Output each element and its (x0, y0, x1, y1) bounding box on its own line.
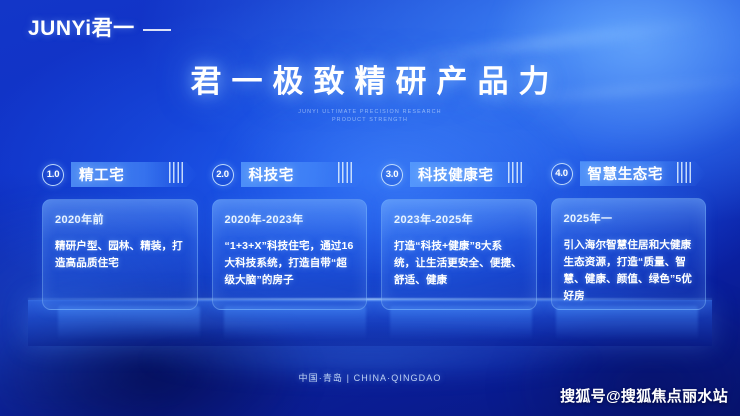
stage-columns: 1.0 精工宅 2020年前 精研户型、园林、精装，打造高品质住宅 2.0 科技… (42, 160, 706, 310)
stripes-icon-4 (677, 162, 693, 183)
slide-canvas: JUNYi君一 君一极致精研产品力 JUNYI ULTIMATE PRECISI… (0, 0, 740, 416)
stage-period-1: 2020年前 (55, 211, 185, 227)
footer-location: 中国·青岛 | CHINA·QINGDAO (0, 371, 740, 384)
stage-column-1[interactable]: 1.0 精工宅 2020年前 精研户型、园林、精装，打造高品质住宅 (42, 160, 198, 310)
page-subtitle-line-1: JUNYI ULTIMATE PRECISION RESEARCH (0, 108, 740, 117)
stage-header-4: 4.0 智慧生态宅 (551, 160, 707, 188)
pedestal-reflection-2 (224, 306, 366, 340)
stage-period-2: 2020年-2023年 (225, 211, 355, 227)
pedestal-reflection-3 (390, 306, 532, 340)
stage-desc-1: 精研户型、园林、精装，打造高品质住宅 (55, 238, 185, 272)
stage-desc-2: “1+3+X”科技住宅，通过16大科技系统，打造自带“超级大脑”的房子 (225, 238, 355, 289)
stage-header-1: 1.0 精工宅 (42, 160, 198, 189)
stage-title-2: 科技宅 (249, 164, 294, 185)
page-subtitle: JUNYI ULTIMATE PRECISION RESEARCH PRODUC… (0, 108, 740, 126)
version-badge-1: 1.0 (42, 164, 64, 186)
stage-column-3[interactable]: 3.0 科技健康宅 2023年-2025年 打造“科技+健康”8大系统，让生活更… (381, 160, 537, 310)
stripes-icon-1 (169, 162, 185, 183)
brand-logo-rule (143, 29, 171, 31)
stage-period-3: 2023年-2025年 (394, 211, 524, 227)
stripes-icon-2 (338, 162, 354, 183)
stage-card-1: 2020年前 精研户型、园林、精装，打造高品质住宅 (42, 199, 198, 310)
stage-card-4: 2025年一 引入海尔智慧住居和大健康生态资源，打造“质量、智慧、健康、颜值、绿… (551, 198, 707, 310)
stage-card-2: 2020年-2023年 “1+3+X”科技住宅，通过16大科技系统，打造自带“超… (212, 199, 368, 310)
stripes-icon-3 (508, 162, 524, 183)
page-title-block: 君一极致精研产品力 JUNYI ULTIMATE PRECISION RESEA… (0, 64, 740, 125)
stage-title-1: 精工宅 (79, 164, 124, 185)
stage-header-2: 2.0 科技宅 (212, 160, 368, 189)
stage-column-4[interactable]: 4.0 智慧生态宅 2025年一 引入海尔智慧住居和大健康生态资源，打造“质量、… (551, 160, 707, 310)
pedestal-reflection-4 (556, 306, 698, 340)
version-badge-2: 2.0 (212, 164, 234, 186)
stage-desc-3: 打造“科技+健康”8大系统，让生活更安全、便捷、舒适、健康 (394, 238, 524, 289)
brand-logo-text: JUNYi君一 (28, 18, 135, 39)
version-badge-3: 3.0 (381, 164, 403, 186)
stage-title-4: 智慧生态宅 (588, 163, 664, 184)
page-title: 君一极致精研产品力 (0, 64, 740, 101)
stage-desc-4: 引入海尔智慧住居和大健康生态资源，打造“质量、智慧、健康、颜值、绿色”5优好房 (564, 237, 694, 305)
brand-logo: JUNYi君一 (28, 18, 171, 39)
version-badge-4: 4.0 (551, 163, 573, 185)
stage-header-3: 3.0 科技健康宅 (381, 160, 537, 189)
stage-period-4: 2025年一 (564, 210, 694, 226)
stage-card-3: 2023年-2025年 打造“科技+健康”8大系统，让生活更安全、便捷、舒适、健… (381, 199, 537, 310)
pedestal-reflection-1 (58, 306, 200, 340)
watermark: 搜狐号@搜狐焦点丽水站 (560, 385, 728, 406)
page-subtitle-line-2: PRODUCT STRENGTH (0, 116, 740, 125)
stage-column-2[interactable]: 2.0 科技宅 2020年-2023年 “1+3+X”科技住宅，通过16大科技系… (212, 160, 368, 310)
stage-title-3: 科技健康宅 (418, 164, 494, 185)
